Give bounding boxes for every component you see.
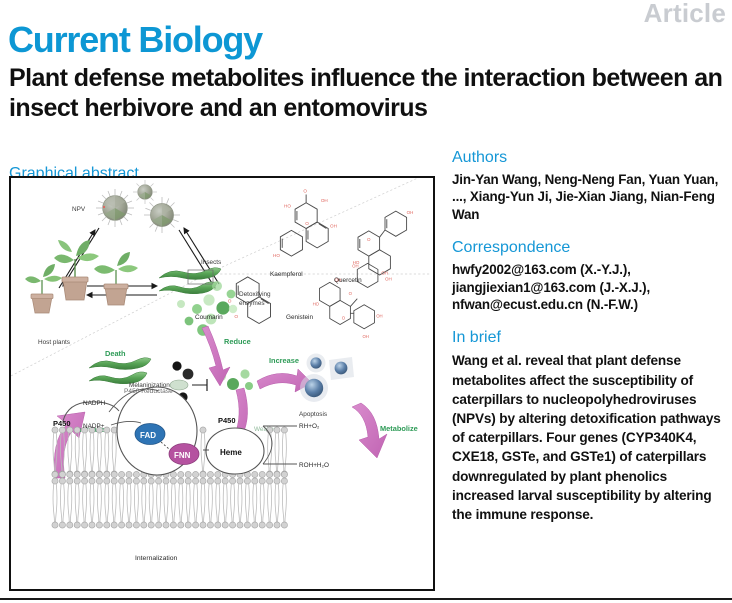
- label-heme: Heme: [220, 448, 242, 457]
- label-death: Death: [105, 349, 126, 358]
- authors-list: Jin-Yan Wang, Neng-Neng Fan, Yuan Yuan, …: [452, 171, 724, 223]
- svg-text:OH: OH: [321, 198, 328, 203]
- label-rh-o2: RH+O₂: [299, 423, 320, 430]
- svg-text:O: O: [367, 237, 371, 242]
- page-title: Plant defense metabolites influence the …: [9, 64, 725, 123]
- svg-text:OH: OH: [352, 264, 358, 269]
- label-host-plants: Host plants: [38, 339, 70, 346]
- label-genistein: Genistein: [286, 314, 313, 321]
- graphical-abstract-figure: NPV: [9, 176, 435, 591]
- svg-text:OH: OH: [381, 271, 387, 276]
- in-brief-heading: In brief: [452, 328, 724, 348]
- label-npv: NPV: [72, 206, 86, 213]
- bottom-divider: [0, 598, 732, 600]
- label-fad: FAD: [140, 431, 156, 440]
- svg-text:HO: HO: [273, 253, 280, 258]
- correspondence-emails[interactable]: hwfy2002@163.com (X.-Y.J.), jiangjiexian…: [452, 261, 724, 313]
- svg-text:O: O: [234, 314, 238, 320]
- label-kaempferol: Kaempferol: [270, 271, 303, 278]
- article-meta-column: Authors Jin-Yan Wang, Neng-Neng Fan, Yua…: [452, 148, 724, 524]
- svg-text:HO: HO: [313, 302, 320, 307]
- label-detoxifying-enzymes-1: Detoxifying: [239, 291, 271, 298]
- graphical-abstract-svg: NPV: [11, 178, 433, 589]
- svg-text:O: O: [342, 315, 346, 320]
- chemical-structures: O OH HO OH HO O OH HO OH: [228, 189, 414, 340]
- label-coumarin: Coumarin: [195, 314, 223, 321]
- authors-heading: Authors: [452, 148, 724, 168]
- svg-text:OH: OH: [385, 276, 392, 281]
- label-fnn: FNN: [174, 451, 191, 460]
- in-brief-block: In brief Wang et al. reveal that plant d…: [452, 328, 724, 524]
- svg-text:O: O: [303, 189, 307, 194]
- correspondence-block: Correspondence hwfy2002@163.com (X.-Y.J.…: [452, 238, 724, 313]
- svg-text:OH: OH: [362, 334, 368, 339]
- label-apoptosis: Apoptosis: [299, 411, 327, 418]
- insects-illustration: [159, 268, 221, 294]
- in-brief-text: Wang et al. reveal that plant defense me…: [452, 351, 724, 524]
- apoptosis-cells: [300, 354, 354, 403]
- svg-text:OH: OH: [376, 314, 382, 319]
- article-preview-page: Article Current Biology Plant defense me…: [0, 0, 732, 603]
- svg-text:O: O: [228, 299, 232, 305]
- label-roh-h2o: ROH+H₂O: [299, 462, 329, 469]
- label-insects: Insects: [201, 259, 221, 266]
- svg-text:O: O: [305, 221, 309, 226]
- svg-text:OH: OH: [330, 224, 337, 229]
- authors-block: Authors Jin-Yan Wang, Neng-Neng Fan, Yua…: [452, 148, 724, 223]
- label-nadph: NADPH: [83, 400, 106, 407]
- journal-title: Current Biology: [8, 20, 262, 60]
- death-caterpillar: [89, 358, 151, 384]
- label-increase-mid: Increase: [269, 356, 299, 365]
- npv-virion-cluster: [96, 180, 180, 233]
- label-p450-right: P450: [218, 416, 236, 425]
- article-kicker: Article: [644, 0, 726, 28]
- label-internalization: Internalization: [135, 555, 178, 562]
- svg-text:OH: OH: [407, 210, 414, 215]
- label-quercetin: Quercetin: [334, 277, 362, 284]
- svg-text:O: O: [349, 291, 353, 296]
- svg-text:HO: HO: [284, 203, 291, 208]
- host-plants-illustration: [25, 240, 138, 313]
- correspondence-heading: Correspondence: [452, 238, 724, 258]
- label-metabolize: Metabolize: [380, 424, 418, 433]
- label-reduce: Reduce: [224, 337, 251, 346]
- label-nadp-plus: NADP+: [83, 423, 105, 430]
- label-p450-left: P450: [53, 419, 71, 428]
